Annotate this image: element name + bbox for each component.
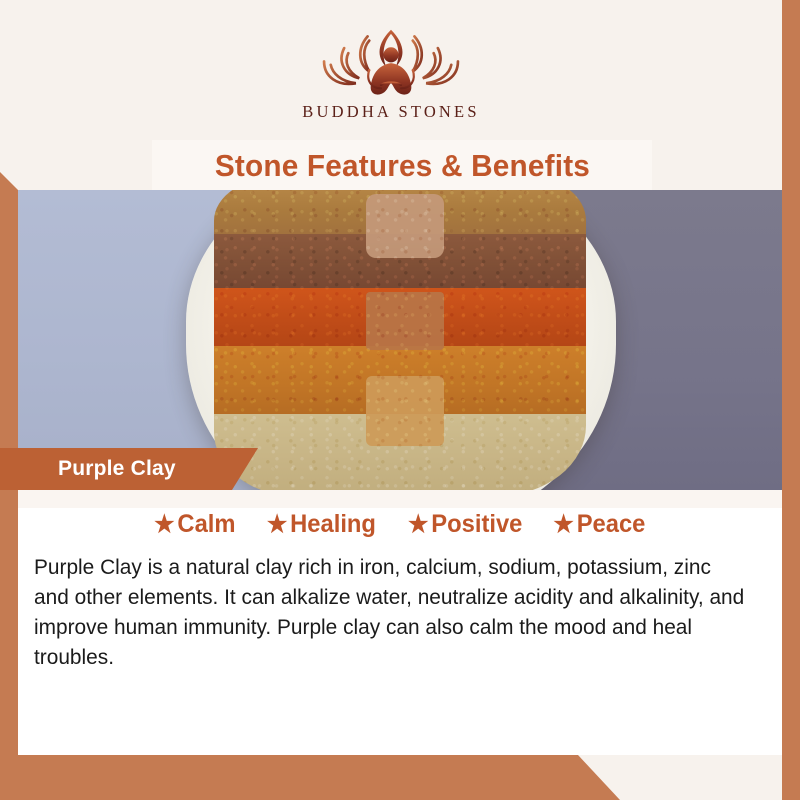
product-photo <box>18 190 782 490</box>
content-card: ★ Calm ★ Healing ★ Positive ★ Peace Purp… <box>18 490 782 755</box>
stone-name-label: Purple Clay <box>58 457 176 481</box>
star-icon: ★ <box>154 513 174 537</box>
stone-description: Purple Clay is a natural clay rich in ir… <box>34 552 750 672</box>
benefit-item-peace: ★ Peace <box>553 510 645 539</box>
powder-grain-texture <box>214 190 586 490</box>
stone-name-banner: Purple Clay <box>0 448 258 490</box>
frame-left-corner-nub <box>0 172 18 192</box>
frame-right <box>782 0 800 800</box>
benefit-item-calm: ★ Calm <box>154 510 235 539</box>
page-title: Stone Features & Benefits <box>214 148 589 184</box>
benefit-label: Calm <box>178 510 236 539</box>
card-top-tint <box>18 490 782 508</box>
benefit-item-positive: ★ Positive <box>408 510 522 539</box>
title-plate: Stone Features & Benefits <box>152 140 652 192</box>
star-icon: ★ <box>553 513 573 537</box>
benefit-label: Healing <box>290 510 376 539</box>
star-icon: ★ <box>408 513 428 537</box>
frame-bottom <box>0 755 620 800</box>
infographic-page: BUDDHA STONES Stone Features & Benefits … <box>0 0 800 800</box>
brand-header: BUDDHA STONES <box>0 0 782 140</box>
brand-name: BUDDHA STONES <box>302 102 479 122</box>
benefit-label: Positive <box>431 510 522 539</box>
benefit-label: Peace <box>577 510 646 539</box>
clay-powder-bands <box>214 190 586 490</box>
benefits-list: ★ Calm ★ Healing ★ Positive ★ Peace <box>18 510 782 539</box>
benefit-item-healing: ★ Healing <box>267 510 376 539</box>
star-icon: ★ <box>267 513 287 537</box>
lotus-meditation-icon <box>306 18 476 100</box>
